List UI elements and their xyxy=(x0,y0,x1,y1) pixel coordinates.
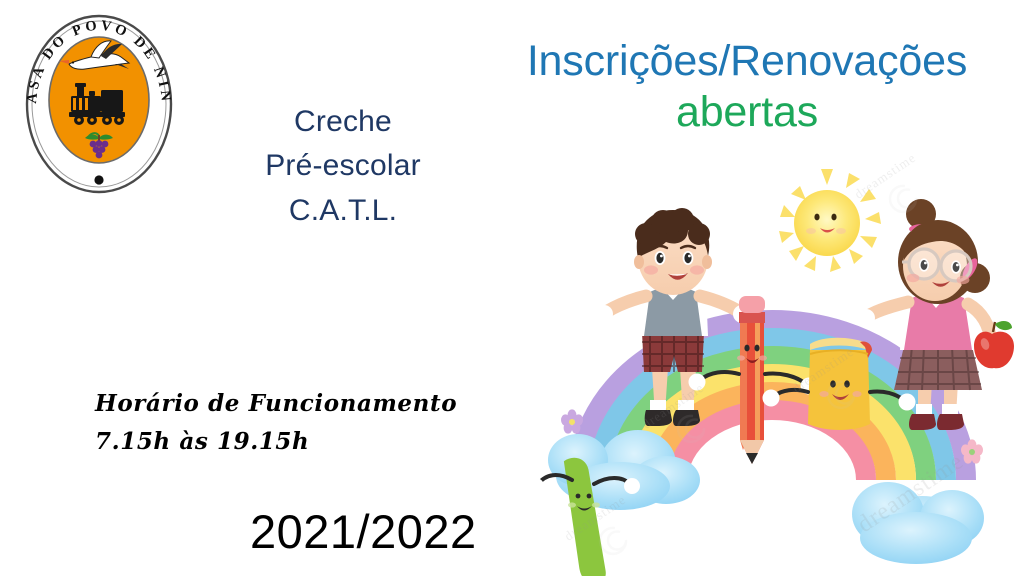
services-list: Creche Pré-escolar C.A.T.L. xyxy=(198,100,488,233)
headline-line-2: abertas xyxy=(470,87,1024,138)
opening-hours-value: 7.15h às 19.15h xyxy=(95,423,457,461)
school-year-label: 2021/2022 xyxy=(250,508,477,555)
crest-dot xyxy=(94,175,103,184)
headline: Inscrições/Renovações abertas xyxy=(470,36,1024,137)
flower-purple-icon xyxy=(561,409,583,433)
apple-icon xyxy=(974,321,1014,368)
casa-do-povo-de-nine-logo: CASA DO POVO DE NINE xyxy=(14,8,184,198)
service-item-catl: C.A.T.L. xyxy=(198,189,488,233)
sun-icon xyxy=(779,169,881,272)
opening-hours-title: Horário de Funcionamento xyxy=(95,385,457,423)
opening-hours-block: Horário de Funcionamento 7.15h às 19.15h xyxy=(95,385,457,461)
service-item-creche: Creche xyxy=(198,100,488,144)
kids-on-rainbow-illustration: dreamstime dreamstime dreamstime dreamst… xyxy=(520,150,1024,576)
cloud-right xyxy=(852,482,984,564)
poster-canvas: CASA DO POVO DE NINE xyxy=(0,0,1024,576)
service-item-pre-escolar: Pré-escolar xyxy=(198,144,488,188)
headline-line-1: Inscrições/Renovações xyxy=(470,36,1024,87)
